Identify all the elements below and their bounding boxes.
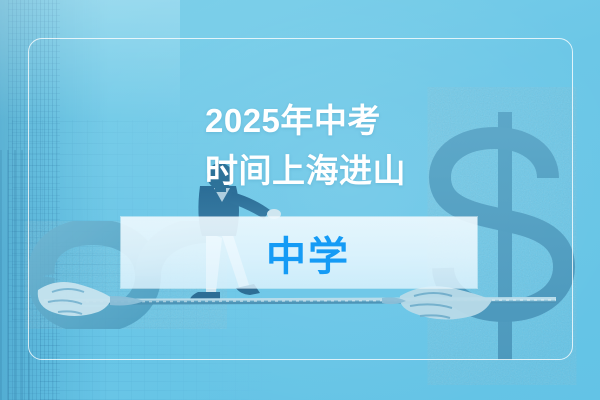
banner-image: 2025年中考 时间上海进山 中学 xyxy=(0,0,600,400)
headline-line-2: 时间上海进山 xyxy=(205,146,505,196)
hand-right-icon xyxy=(382,286,492,319)
artwork-layer xyxy=(0,0,600,400)
headline-line-1: 2025年中考 xyxy=(205,96,505,146)
page-title: 2025年中考 时间上海进山 xyxy=(205,96,505,196)
highlight-text: 中学 xyxy=(121,217,477,288)
